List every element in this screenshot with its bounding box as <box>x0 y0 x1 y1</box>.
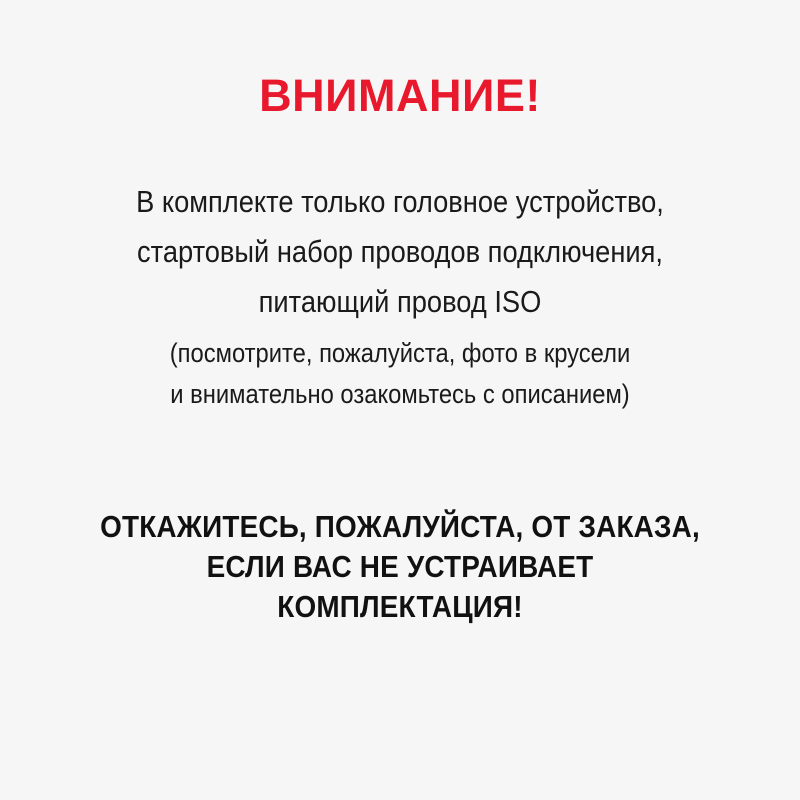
package-contents-line-3: питающий провод ISO <box>48 277 752 327</box>
parenthetical-note-line-1: (посмотрите, пожалуйста, фото в крусели <box>48 333 752 374</box>
parenthetical-note-line-2: и внимательно озакомьтесь с описанием) <box>48 374 752 415</box>
order-cancellation-warning-line-1: ОТКАЖИТЕСЬ, ПОЖАЛУЙСТА, ОТ ЗАКАЗА, <box>40 507 760 547</box>
notice-card: ВНИМАНИЕ! В комплекте только головное ус… <box>0 0 800 800</box>
page-title: ВНИМАНИЕ! <box>0 0 800 119</box>
package-contents-line-2: стартовый набор проводов подключения, <box>48 227 752 277</box>
order-cancellation-warning-line-2: ЕСЛИ ВАС НЕ УСТРАИВАЕТ <box>40 547 760 587</box>
parenthetical-note-block: (посмотрите, пожалуйста, фото в крусели … <box>0 327 800 415</box>
order-cancellation-warning-block: ОТКАЖИТЕСЬ, ПОЖАЛУЙСТА, ОТ ЗАКАЗА, ЕСЛИ … <box>0 415 800 627</box>
order-cancellation-warning-line-3: КОМПЛЕКТАЦИЯ! <box>40 587 760 627</box>
package-contents-line-1: В комплекте только головное устройство, <box>48 177 752 227</box>
package-contents-block: В комплекте только головное устройство, … <box>0 119 800 327</box>
